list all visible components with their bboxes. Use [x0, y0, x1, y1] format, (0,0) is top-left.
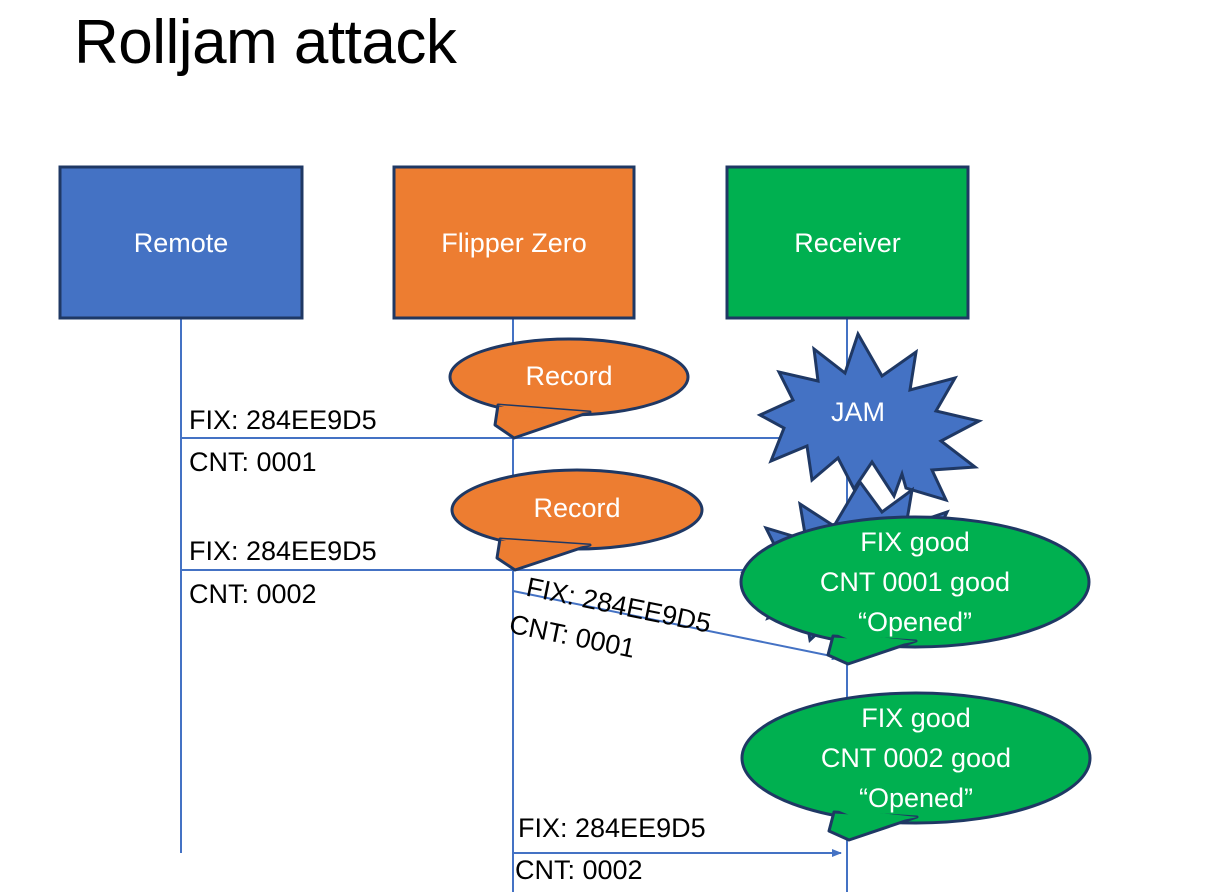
diagram-graphics [0, 0, 1231, 892]
callout-opened-2 [742, 693, 1090, 840]
message-4-fix: FIX: 284EE9D5 [518, 811, 706, 845]
actor-box-receiver [727, 167, 968, 318]
jam-starburst-1 [760, 334, 979, 500]
callout-opened-1 [741, 517, 1089, 664]
callout-record-1 [450, 339, 688, 438]
message-2-fix: FIX: 284EE9D5 [189, 534, 377, 568]
message-1-cnt: CNT: 0001 [189, 445, 317, 479]
message-4-cnt: CNT: 0002 [515, 853, 643, 887]
actor-box-remote [60, 167, 302, 318]
callout-record-2 [452, 470, 702, 570]
actor-box-flipper [394, 167, 634, 318]
slide-canvas: Rolljam attack [0, 0, 1231, 892]
message-2-cnt: CNT: 0002 [189, 577, 317, 611]
message-1-fix: FIX: 284EE9D5 [189, 403, 377, 437]
